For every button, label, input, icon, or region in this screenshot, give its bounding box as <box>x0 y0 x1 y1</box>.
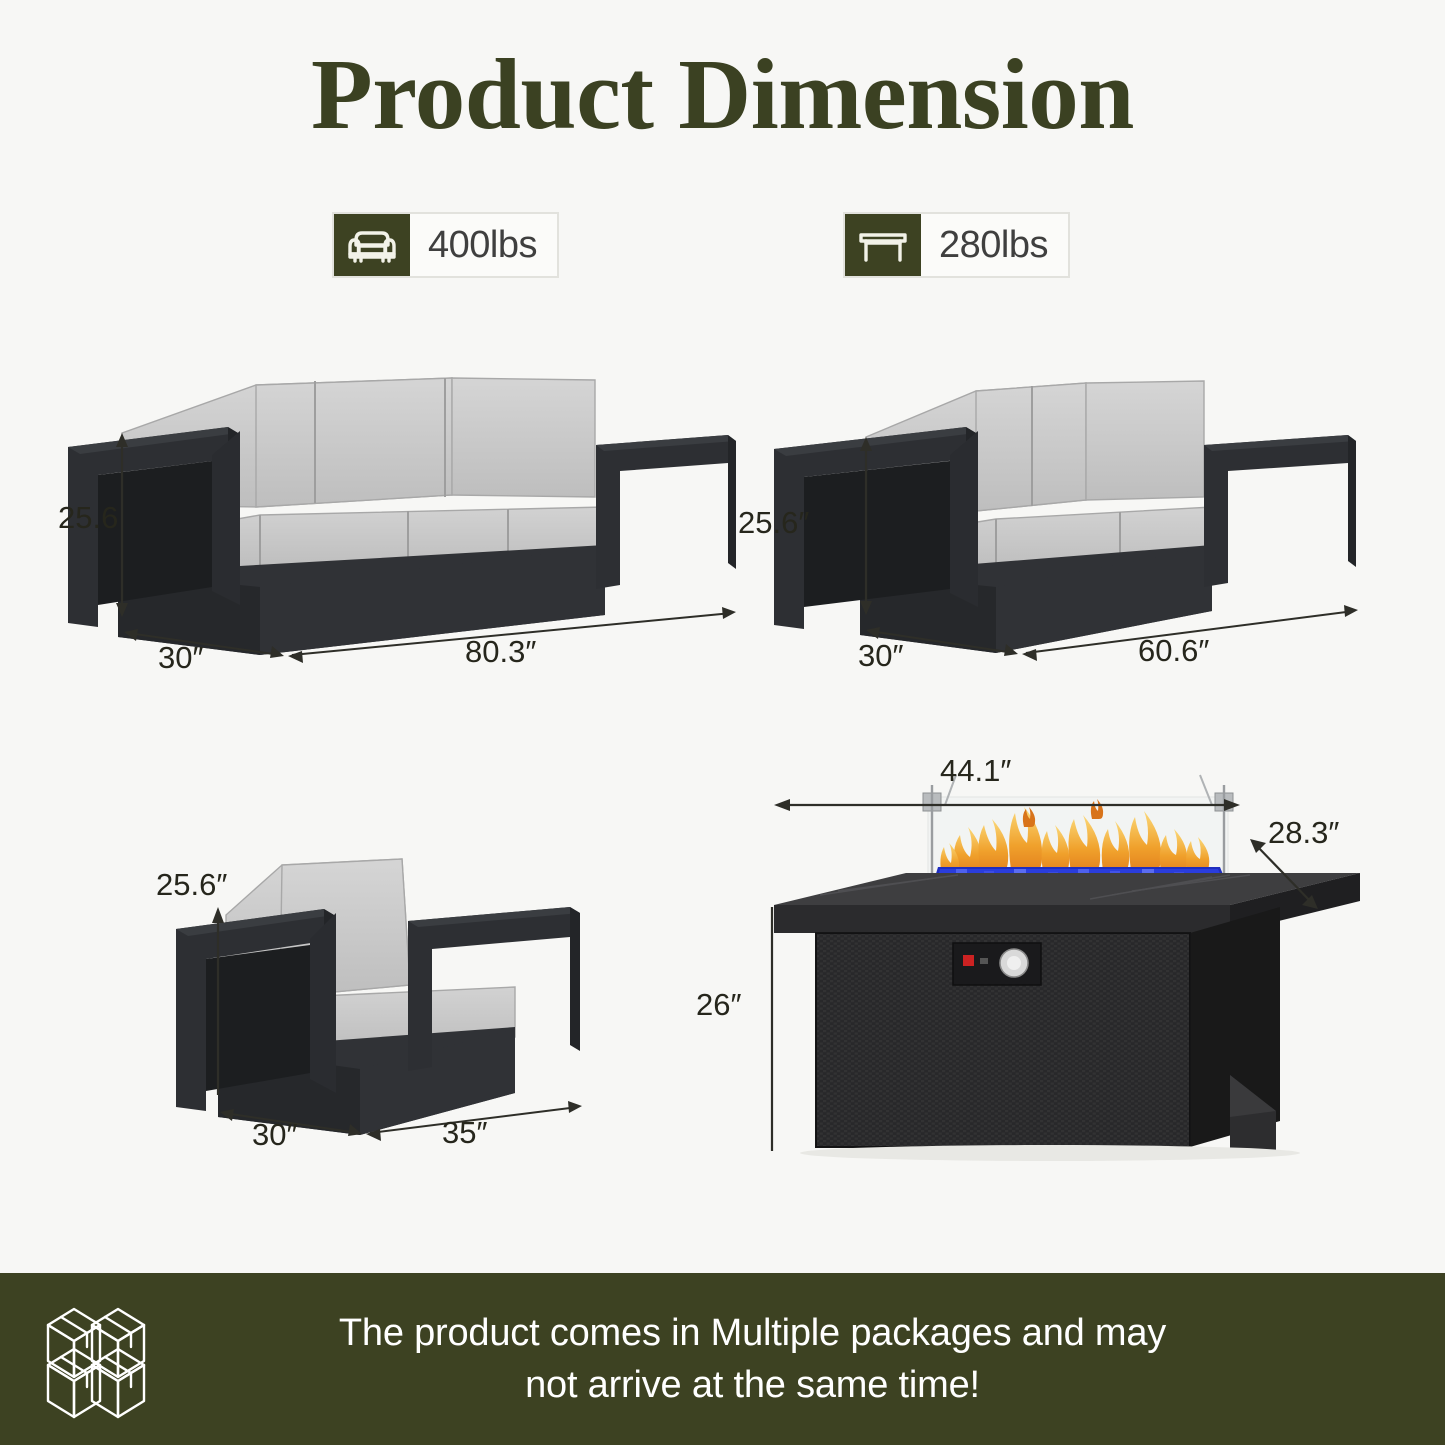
badge-table-capacity: 280lbs <box>843 212 1070 278</box>
sofa-icon <box>334 214 410 276</box>
armchair-illustration <box>170 845 640 1175</box>
firepit-width-label: 44.1″ <box>940 753 1011 789</box>
loveseat-illustration <box>760 355 1380 685</box>
figure-sofa: 25.6 30″ 80.3″ <box>60 355 750 685</box>
table-icon <box>845 214 921 276</box>
footer-message: The product comes in Multiple packages a… <box>230 1307 1445 1412</box>
loveseat-depth-label: 30″ <box>858 638 903 674</box>
figure-armchair: 25.6″ 30″ 35″ <box>170 845 640 1175</box>
figure-loveseat: 25.6″ 30″ 60.6″ <box>760 355 1380 685</box>
page-title: Product Dimension <box>0 38 1445 151</box>
sofa-width-label: 80.3″ <box>465 634 536 670</box>
figure-firepit: 44.1″ 28.3″ 26″ <box>760 755 1380 1175</box>
badge-table-label: 280lbs <box>921 214 1068 276</box>
badge-sofa-label: 400lbs <box>410 214 557 276</box>
firepit-height-label: 26″ <box>696 987 741 1023</box>
footer-banner: The product comes in Multiple packages a… <box>0 1273 1445 1445</box>
packages-icon <box>0 1299 230 1419</box>
footer-line-1: The product comes in Multiple packages a… <box>230 1307 1275 1359</box>
badge-sofa-capacity: 400lbs <box>332 212 559 278</box>
footer-line-2: not arrive at the same time! <box>230 1359 1275 1411</box>
capacity-badges: 400lbs 280lbs <box>0 206 1445 290</box>
loveseat-width-label: 60.6″ <box>1138 633 1209 669</box>
sofa-height-label: 25.6 <box>58 500 118 536</box>
armchair-depth-label: 30″ <box>252 1117 297 1153</box>
firepit-depth-label: 28.3″ <box>1268 815 1339 851</box>
sofa-illustration <box>60 355 750 685</box>
armchair-width-label: 35″ <box>442 1115 487 1151</box>
sofa-depth-label: 30″ <box>158 640 203 676</box>
armchair-height-label: 25.6″ <box>156 867 227 903</box>
infographic-page: Product Dimension 400lbs <box>0 0 1445 1445</box>
loveseat-height-label: 25.6″ <box>738 505 809 541</box>
